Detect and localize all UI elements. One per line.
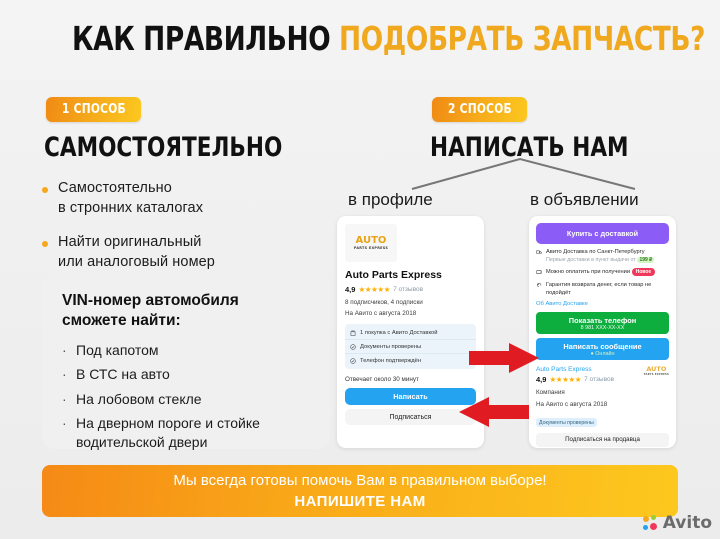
member-since: На Авито с августа 2018 (536, 400, 614, 409)
check-circle-icon (350, 358, 356, 364)
vin-card-title: VIN-номер автомобиля сможете найти: (62, 291, 312, 332)
rating-row: 4,9 ★★★★★ 7 отзывов (345, 285, 476, 294)
cart-icon (350, 330, 356, 336)
vin-item-text: На лобовом стекле (76, 390, 202, 408)
wallet-icon (536, 269, 542, 275)
bullet-dot-icon: · (62, 390, 68, 408)
answer-time: Отвечает около 30 минут (345, 376, 476, 383)
avito-wordmark: Avito (663, 513, 712, 533)
list-item: ·На лобовом стекле (62, 390, 312, 408)
list-item: ·На дверном пороге и стойке водительской… (62, 414, 312, 451)
sub-label-profile: в профиле (348, 190, 433, 210)
bullet-dot-icon: · (62, 414, 68, 451)
check-circle-icon (350, 344, 356, 350)
vin-item-text: На дверном пороге и стойке водительской … (76, 414, 260, 451)
rating-value: 4,9 (536, 375, 546, 384)
title-part-2-highlight: ПОДОБРАТЬ ЗАПЧАСТЬ? (339, 19, 705, 58)
show-phone-button[interactable]: Показать телефон 8 981 XXX-XX-XX (536, 312, 669, 334)
badge-method-2-label: 2 СПОСОБ (448, 102, 512, 117)
delivery-sub: Первые доставки в пункт выдачи от (546, 257, 636, 263)
list-item: Документы проверены (345, 339, 476, 353)
vin-item-text: В СТС на авто (76, 365, 170, 383)
red-arrow-right-icon (469, 342, 541, 374)
bullet-text: Самостоятельно в стронних каталогах (58, 178, 203, 218)
page-title: КАК ПРАВИЛЬНО ПОДОБРАТЬ ЗАПЧАСТЬ? (0, 22, 720, 57)
stars-icon: ★★★★★ (549, 375, 581, 384)
about-delivery-link[interactable]: Об Авито Доставке (536, 301, 669, 307)
seller-name[interactable]: Auto Parts Express (536, 366, 614, 373)
badge-method-2: 2 СПОСОБ (432, 97, 527, 122)
guarantee-label: Гарантия возврата денег, если товар не п… (546, 282, 669, 297)
list-item: Телефон подтверждён (345, 353, 476, 367)
truck-icon (536, 249, 542, 255)
status-badge: Документы проверены (536, 418, 597, 427)
seller-logo: AUTO PARTS EXPRESS (644, 366, 669, 376)
list-item: 1 покупка с Авито Доставкой (345, 326, 476, 339)
method-1-bullet-list: Самостоятельно в стронних каталогах Найт… (42, 178, 327, 286)
badge-label: 1 покупка с Авито Доставкой (360, 330, 438, 336)
vin-item-text: Под капотом (76, 341, 159, 359)
return-icon (536, 282, 542, 288)
stars-icon: ★★★★★ (358, 285, 390, 294)
shop-logo: AUTO PARTS EXPRESS (345, 224, 397, 262)
followers-count: 8 подписчиков, 4 подписки (345, 298, 476, 307)
logo-sub-text: PARTS EXPRESS (644, 374, 669, 376)
payment-label: Можно оплатить при получении (546, 269, 630, 275)
bullet-dot-icon: · (62, 341, 68, 359)
rating-value: 4,9 (345, 285, 355, 294)
delivery-row: Авито Доставка по Санкт-Петербургу Первы… (536, 249, 669, 264)
avito-dots-icon (643, 515, 660, 532)
show-phone-label: Показать телефон (569, 316, 636, 325)
rating-row: 4,9 ★★★★★ 7 отзывов (536, 375, 614, 384)
bullet-dot-icon: · (62, 365, 68, 383)
online-status: ● Онлайн (590, 351, 614, 357)
delivery-row: Гарантия возврата денег, если товар не п… (536, 282, 669, 297)
bullet-dot-icon (42, 241, 48, 247)
shop-name: Auto Parts Express (345, 269, 476, 281)
heading-method-1: САМОСТОЯТЕЛЬНО (44, 132, 282, 163)
bullet-text: Найти оригинальный или аналоговый номер (58, 232, 215, 272)
badge-label: Телефон подтверждён (360, 358, 421, 364)
logo-main-text: AUTO (356, 235, 387, 246)
badge-method-1-label: 1 СПОСОБ (62, 102, 126, 117)
new-chip: Новое (632, 268, 656, 276)
bullet-dot-icon (42, 187, 48, 193)
subscribe-seller-button[interactable]: Подписаться на продавца (536, 433, 669, 447)
listing-screenshot-card: Купить с доставкой Авито Доставка по Сан… (529, 216, 676, 448)
list-item: ·В СТС на авто (62, 365, 312, 383)
reviews-count[interactable]: 7 отзывов (393, 286, 423, 293)
poster-root: КАК ПРАВИЛЬНО ПОДОБРАТЬ ЗАПЧАСТЬ? 1 СПОС… (0, 0, 720, 539)
cta-banner: Мы всегда готовы помочь Вам в правильном… (42, 465, 678, 517)
write-message-button[interactable]: Написать сообщение ● Онлайн (536, 338, 669, 360)
trust-badge-list: 1 покупка с Авито Доставкой Документы пр… (345, 324, 476, 369)
price-chip: 199 ₽ (637, 257, 654, 263)
list-item: Самостоятельно в стронних каталогах (42, 178, 327, 218)
phone-number: 8 981 XXX-XX-XX (581, 325, 625, 331)
logo-sub-text: PARTS EXPRESS (354, 247, 388, 250)
seller-type: Компания (536, 388, 614, 397)
banner-line-1: Мы всегда готовы помочь Вам в правильном… (173, 472, 546, 489)
connector-lines (350, 155, 680, 195)
banner-line-2: НАПИШИТЕ НАМ (294, 493, 425, 510)
buy-with-delivery-button[interactable]: Купить с доставкой (536, 223, 669, 244)
avito-logo: Avito (643, 513, 712, 533)
delivery-row: Можно оплатить при получении Новое (536, 269, 669, 277)
badge-method-1: 1 СПОСОБ (46, 97, 141, 122)
delivery-label: Авито Доставка по Санкт-Петербургу (546, 249, 645, 255)
list-item: Найти оригинальный или аналоговый номер (42, 232, 327, 272)
red-arrow-left-icon (457, 396, 529, 428)
write-message-label: Написать сообщение (563, 342, 641, 351)
sub-label-listing: в объявлении (530, 190, 639, 210)
member-since: На Авито с августа 2018 (345, 309, 476, 318)
vin-info-card: VIN-номер автомобиля сможете найти: ·Под… (42, 274, 330, 449)
badge-label: Документы проверены (360, 344, 421, 350)
reviews-count[interactable]: 7 отзывов (584, 376, 614, 383)
list-item: ·Под капотом (62, 341, 312, 359)
title-part-1: КАК ПРАВИЛЬНО (72, 19, 339, 58)
